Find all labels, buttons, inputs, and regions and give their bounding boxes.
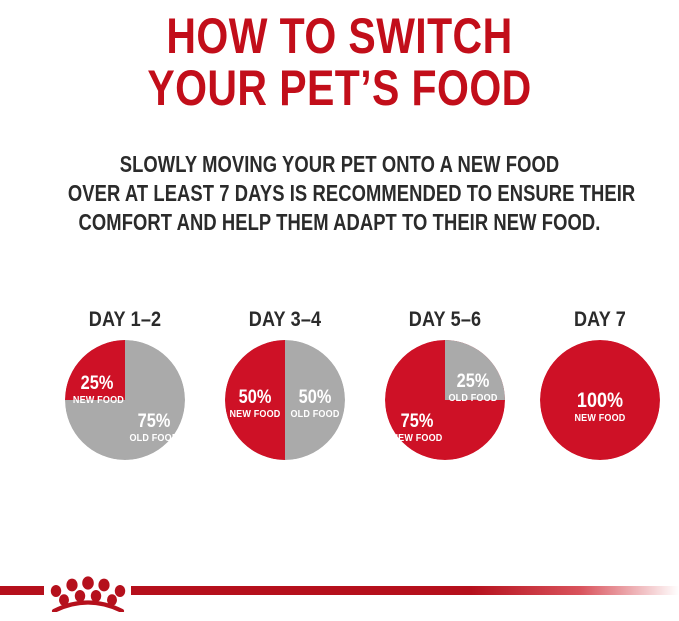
- pie-pct-new-4: 100%: [566, 390, 635, 411]
- pie-kind-new-3: NEW FOOD: [391, 433, 443, 444]
- crown-svg: [44, 572, 132, 612]
- pie-chart-day-3-4: DAY 3–4 50% NEW FOOD 50% OLD FOOD: [205, 308, 365, 488]
- infographic-page: { "headline": { "line1": "HOW TO SWITCH"…: [0, 0, 679, 621]
- pie-kind-old-2: OLD FOOD: [289, 409, 341, 420]
- page-subtitle-line-3: COMFORT AND HELP THEM ADAPT TO THEIR NEW…: [68, 208, 611, 237]
- pie-label-new-1: 25% NEW FOOD: [69, 374, 125, 406]
- pie-kind-old-1: OLD FOOD: [127, 433, 180, 444]
- pie-chart-day-7: DAY 7 100% NEW FOOD: [520, 308, 679, 488]
- pie-chart-row: DAY 1–2 25% NEW FOOD 75% OLD FOOD DAY 3–…: [0, 308, 679, 488]
- day-label-2: DAY 3–4: [216, 308, 354, 332]
- royal-canin-crown-icon: [44, 572, 132, 612]
- pie-label-old-3: 25% OLD FOOD: [443, 372, 503, 404]
- pie-pct-new-1: 25%: [73, 374, 121, 393]
- day-label-4: DAY 7: [531, 308, 669, 332]
- pie-pct-old-2: 50%: [289, 388, 341, 407]
- page-title: HOW TO SWITCH YOUR PET’S FOOD: [61, 10, 618, 114]
- day-label-1: DAY 1–2: [56, 308, 194, 332]
- footer-bar-left: [0, 586, 44, 595]
- footer: [0, 586, 679, 621]
- footer-bar-right: [131, 586, 679, 595]
- pie-kind-new-2: NEW FOOD: [229, 409, 281, 420]
- page-subtitle: SLOWLY MOVING YOUR PET ONTO A NEW FOOD O…: [68, 150, 611, 237]
- page-title-line-2: YOUR PET’S FOOD: [61, 62, 618, 114]
- pie-label-new-3: 75% NEW FOOD: [387, 412, 447, 444]
- page-subtitle-line-1: SLOWLY MOVING YOUR PET ONTO A NEW FOOD: [68, 150, 611, 179]
- pie-label-old-1: 75% OLD FOOD: [123, 412, 185, 444]
- pie-kind-new-1: NEW FOOD: [73, 395, 121, 406]
- page-subtitle-line-2: OVER AT LEAST 7 DAYS IS RECOMMENDED TO E…: [68, 179, 611, 208]
- pie-pct-old-3: 25%: [447, 372, 499, 391]
- pie-label-new-4: 100% NEW FOOD: [560, 390, 640, 424]
- pie-label-old-2: 50% OLD FOOD: [285, 388, 345, 420]
- pie-kind-old-3: OLD FOOD: [447, 393, 499, 404]
- pie-chart-day-5-6: DAY 5–6 25% OLD FOOD 75% NEW FOOD: [365, 308, 525, 488]
- pie-chart-day-1-2: DAY 1–2 25% NEW FOOD 75% OLD FOOD: [45, 308, 205, 488]
- pie-pct-old-1: 75%: [127, 412, 180, 431]
- pie-kind-new-4: NEW FOOD: [566, 413, 635, 424]
- day-label-3: DAY 5–6: [376, 308, 514, 332]
- pie-label-new-2: 50% NEW FOOD: [225, 388, 285, 420]
- pie-pct-new-3: 75%: [391, 412, 443, 431]
- page-title-line-1: HOW TO SWITCH: [61, 10, 618, 62]
- pie-pct-new-2: 50%: [229, 388, 281, 407]
